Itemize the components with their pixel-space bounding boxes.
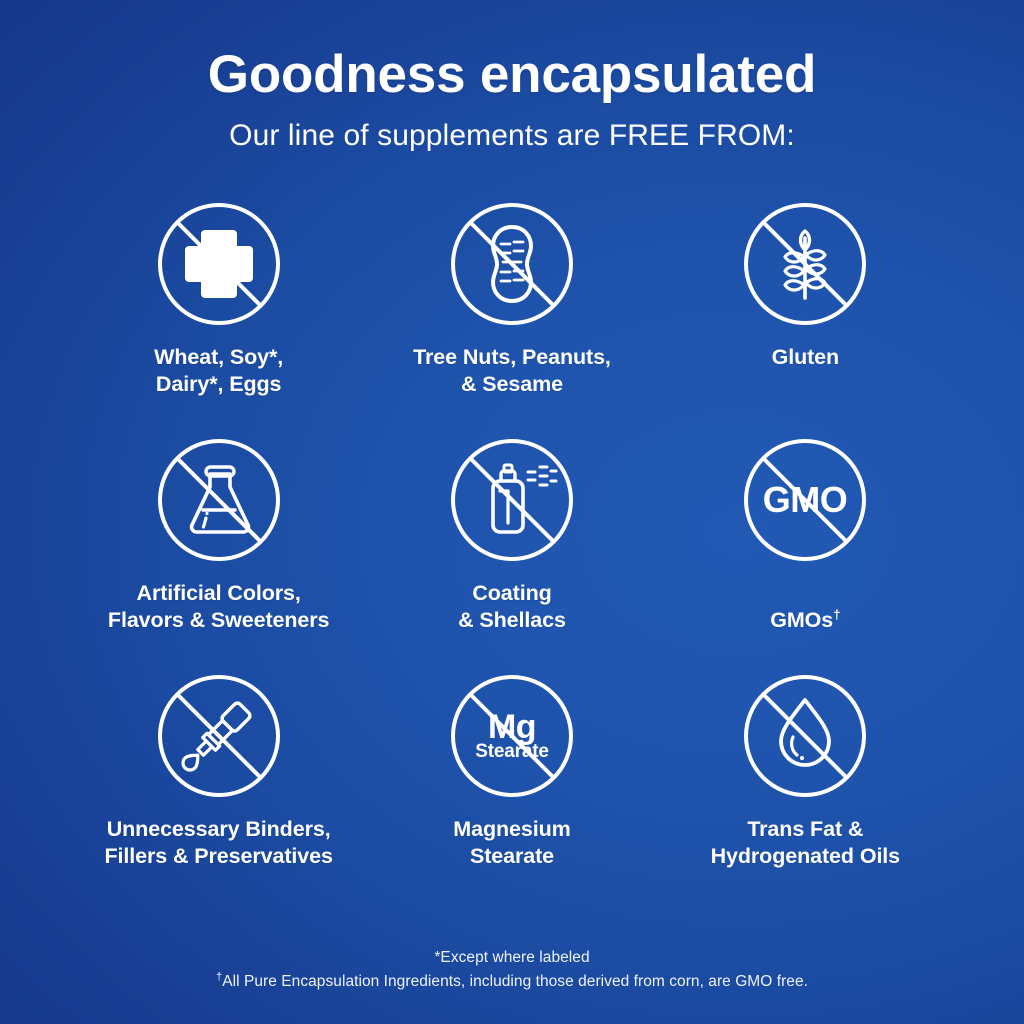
page-subtitle: Our line of supplements are FREE FROM: (0, 119, 1024, 154)
no-chemical-flask-icon (153, 434, 285, 566)
grid-item-label: Coating & Shellacs (458, 580, 566, 635)
grid-item-label: GMOs† (770, 580, 840, 635)
grid-item-label: Trans Fat & Hydrogenated Oils (711, 816, 900, 871)
grid-item-mg-stearate: Mg Stearate Magnesium Stearate (365, 670, 658, 906)
no-wheat-stalk-icon (739, 198, 871, 330)
no-peanut-icon (446, 198, 578, 330)
grid-item-label: Magnesium Stearate (453, 816, 570, 871)
poster-header: Goodness encapsulated Our line of supple… (0, 0, 1024, 154)
no-spray-can-icon (446, 434, 578, 566)
footnote-asterisk: *Except where labeled (0, 946, 1024, 970)
grid-item-label: Gluten (772, 344, 839, 372)
dagger-symbol: † (833, 607, 840, 622)
grid-item-label: Artificial Colors, Flavors & Sweeteners (108, 580, 329, 635)
grid-item-label: Unnecessary Binders, Fillers & Preservat… (104, 816, 332, 871)
no-gmo-text-icon: GMO (739, 434, 871, 566)
grid-item-nuts: Tree Nuts, Peanuts, & Sesame (365, 198, 658, 434)
grid-item-label: Tree Nuts, Peanuts, & Sesame (413, 344, 611, 399)
poster-canvas: Goodness encapsulated Our line of supple… (0, 0, 1024, 1024)
grid-item-label: Wheat, Soy*, Dairy*, Eggs (154, 344, 283, 399)
footnotes: *Except where labeled †All Pure Encapsul… (0, 946, 1024, 994)
footnote-dagger-text: All Pure Encapsulation Ingredients, incl… (222, 973, 808, 990)
free-from-grid: Wheat, Soy*, Dairy*, Eggs (72, 198, 952, 906)
no-dropper-pipette-icon (153, 670, 285, 802)
grid-item-allergens: Wheat, Soy*, Dairy*, Eggs (72, 198, 365, 434)
no-magnesium-stearate-text-icon: Mg Stearate (446, 670, 578, 802)
grid-item-artificial-colors: Artificial Colors, Flavors & Sweeteners (72, 434, 365, 670)
stearate-icon-text: Stearate (475, 741, 548, 762)
footnote-dagger: †All Pure Encapsulation Ingredients, inc… (0, 970, 1024, 994)
grid-item-gmos: GMO GMOs† (659, 434, 952, 670)
grid-item-label-text: GMOs (770, 608, 833, 632)
grid-item-trans-fat: Trans Fat & Hydrogenated Oils (659, 670, 952, 906)
no-oil-droplet-icon (739, 670, 871, 802)
no-allergens-fork-cross-icon (153, 198, 285, 330)
page-title: Goodness encapsulated (0, 46, 1024, 103)
grid-item-coating: Coating & Shellacs (365, 434, 658, 670)
grid-item-binders: Unnecessary Binders, Fillers & Preservat… (72, 670, 365, 906)
grid-item-gluten: Gluten (659, 198, 952, 434)
